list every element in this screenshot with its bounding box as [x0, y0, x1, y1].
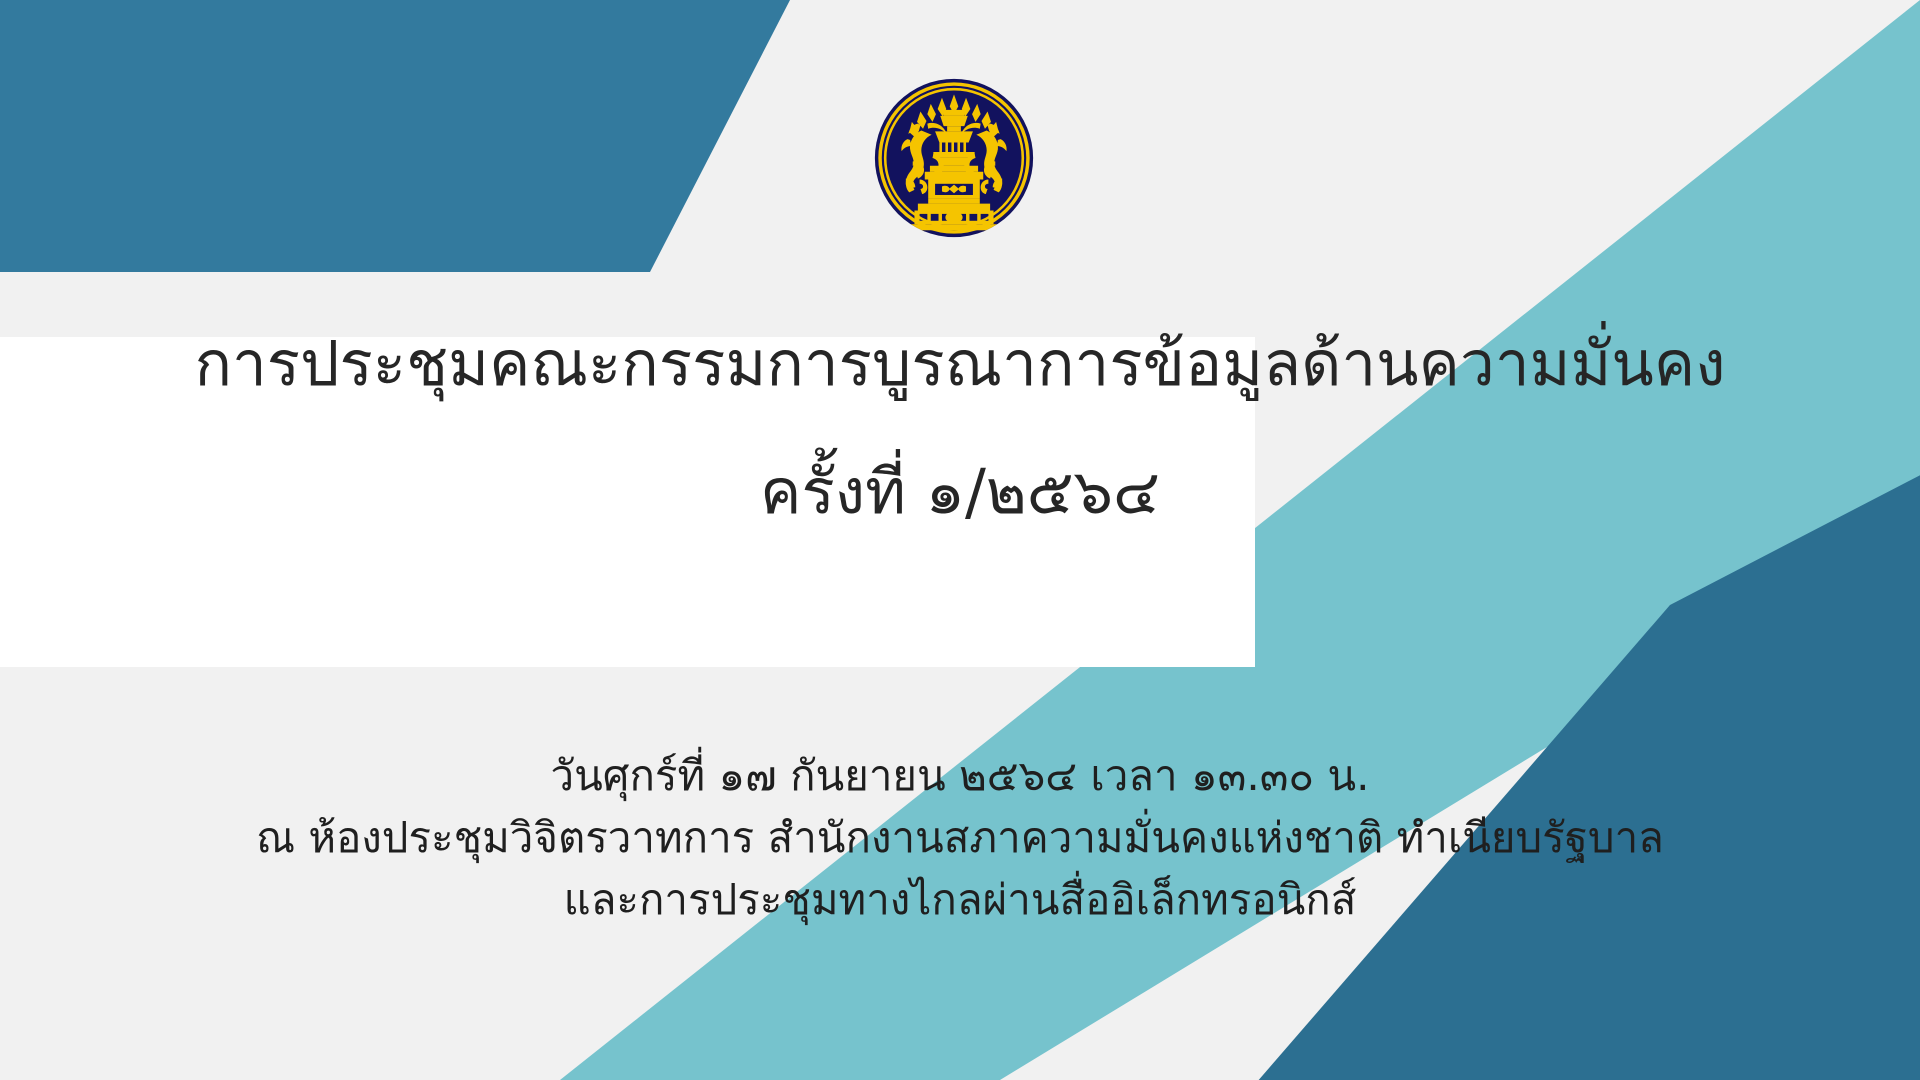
thai-government-seal-emblem	[868, 72, 1040, 244]
subtitle-line-datetime: วันศุกร์ที่ ๑๗ กันยายน ๒๕๖๔ เวลา ๑๓.๓๐ น…	[0, 745, 1920, 807]
title-line-2: ครั้งที่ ๑/๒๕๖๔	[0, 428, 1920, 556]
subtitle-line-venue: ณ ห้องประชุมวิจิตรวาทการ สำนักงานสภาความ…	[0, 807, 1920, 869]
subtitle-line-online: และการประชุมทางไกลผ่านสื่ออิเล็กทรอนิกส์	[0, 869, 1920, 931]
title-line-1: การประชุมคณะกรรมการบูรณาการข้อมูลด้านควา…	[0, 300, 1920, 428]
slide-title: การประชุมคณะกรรมการบูรณาการข้อมูลด้านควา…	[0, 300, 1920, 556]
decorative-topleft-parallelogram	[0, 0, 900, 290]
presentation-slide: การประชุมคณะกรรมการบูรณาการข้อมูลด้านควา…	[0, 0, 1920, 1080]
slide-subtitle: วันศุกร์ที่ ๑๗ กันยายน ๒๕๖๔ เวลา ๑๓.๓๐ น…	[0, 745, 1920, 931]
